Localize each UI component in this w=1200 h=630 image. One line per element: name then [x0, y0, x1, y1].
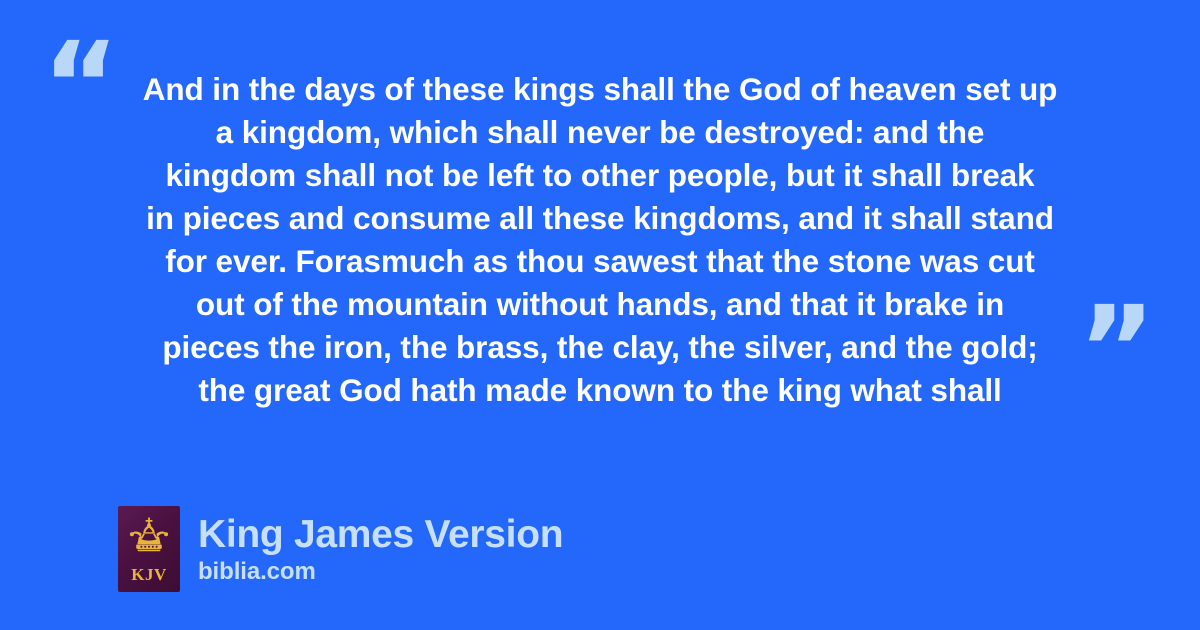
kjv-logo-badge: KJV: [118, 506, 180, 592]
quote-line: a kingdom, which shall never be destroye…: [110, 111, 1090, 154]
bible-version-title: King James Version: [198, 513, 563, 557]
open-quote-icon: “: [42, 26, 120, 144]
quote-block: “ And in the days of these kings shall t…: [0, 0, 1200, 470]
kjv-badge-label: KJV: [131, 566, 167, 583]
footer-text-group: King James Version biblia.com: [198, 513, 563, 586]
footer-attribution: KJV King James Version biblia.com: [118, 506, 563, 592]
quote-line: in pieces and consume all these kingdoms…: [110, 197, 1090, 240]
quote-line: the great God hath made known to the kin…: [110, 369, 1090, 412]
quote-text: And in the days of these kings shall the…: [110, 68, 1090, 412]
quote-line: And in the days of these kings shall the…: [110, 68, 1090, 111]
quote-line: out of the mountain without hands, and t…: [110, 283, 1090, 326]
quote-line: kingdom shall not be left to other peopl…: [110, 154, 1090, 197]
crown-icon: [127, 517, 171, 557]
close-quote-icon: ”: [1078, 290, 1156, 408]
verse-card: “ And in the days of these kings shall t…: [0, 0, 1200, 630]
quote-line: for ever. Forasmuch as thou sawest that …: [110, 240, 1090, 283]
site-url: biblia.com: [198, 558, 563, 586]
quote-line: pieces the iron, the brass, the clay, th…: [110, 326, 1090, 369]
